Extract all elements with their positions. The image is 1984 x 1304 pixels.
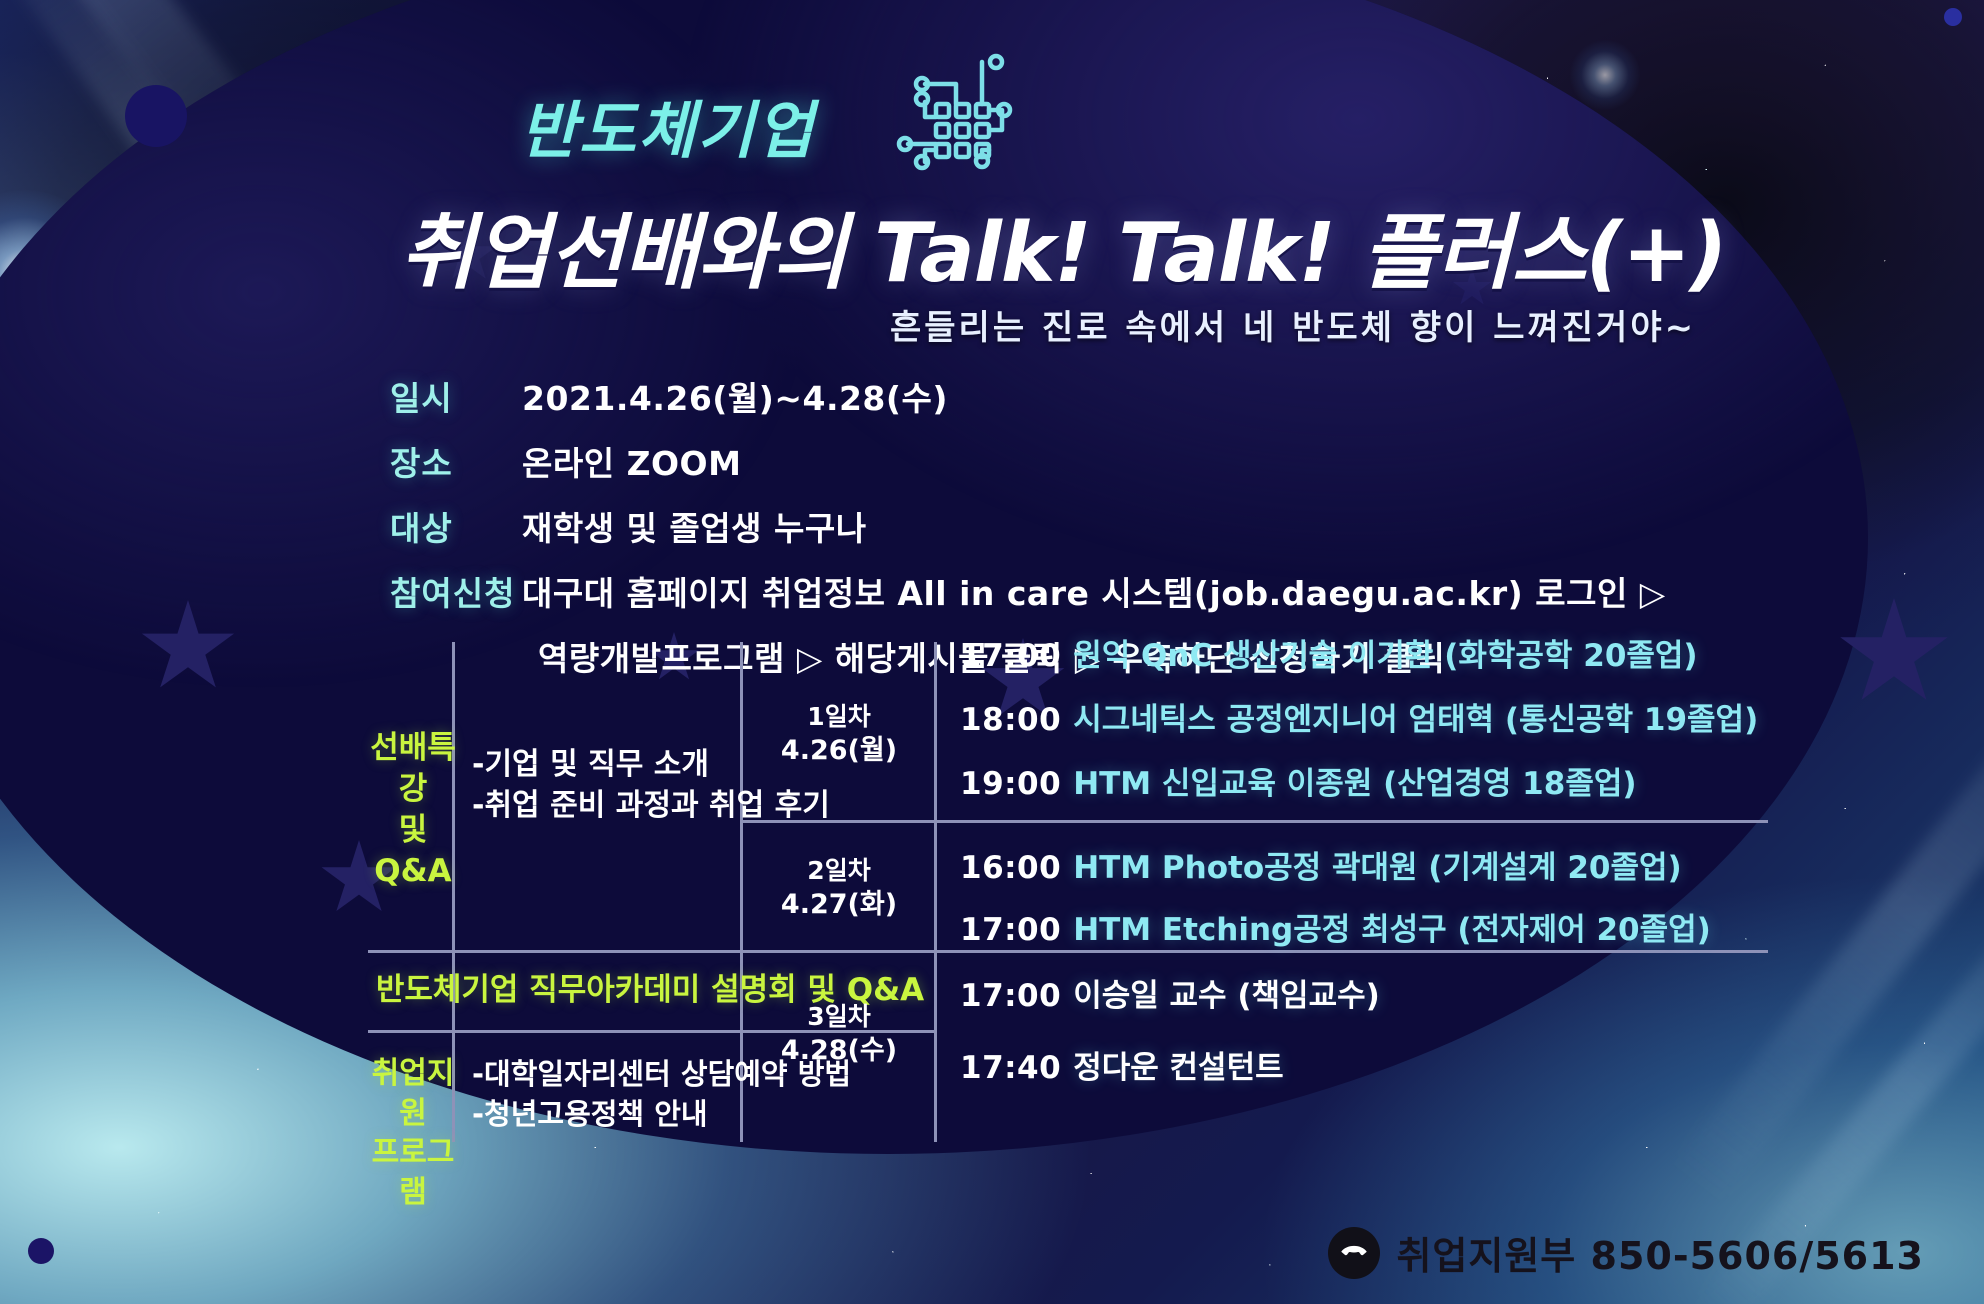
info-label: 일시 [390, 372, 522, 420]
session-time: 17:00 [960, 638, 1061, 674]
info-row-datetime: 일시 2021.4.26(월)~4.28(수) [390, 372, 1666, 420]
info-value: 재학생 및 졸업생 누구나 [522, 502, 867, 550]
session-time: 19:00 [960, 766, 1061, 802]
circuit-chip-icon [878, 44, 1020, 172]
tagline: 흔들리는 진로 속에서 네 반도체 향이 느껴진거야~ [890, 300, 1696, 349]
category-senior-lecture: 선배특강 및 Q&A [358, 728, 468, 892]
session-detail: HTM 신입교육 이종원 (산업경영 18졸업) [1073, 766, 1636, 802]
info-row-apply: 참여신청 대구대 홈페이지 취업정보 All in care 시스템(job.d… [390, 567, 1666, 615]
session-detail: HTM Etching공정 최성구 (전자제어 20졸업) [1073, 912, 1711, 948]
footer-contact: 취업지원부 850-5606/5613 [1328, 1225, 1924, 1280]
description-line: -취업 준비 과정과 취업 후기 [472, 785, 830, 826]
session-detail: 이승일 교수 (책임교수) [1073, 978, 1380, 1014]
session-row: 17:40정다운 컨설턴트 [960, 1042, 1284, 1087]
session-row: 18:00시그네틱스 공정엔지니어 엄태혁 (통신공학 19졸업) [960, 694, 1758, 739]
day-name: 1일차 [748, 700, 930, 733]
table-horizontal-rule [368, 950, 1768, 953]
session-time: 18:00 [960, 702, 1061, 738]
session-detail: 시그네틱스 공정엔지니어 엄태혁 (통신공학 19졸업) [1073, 702, 1758, 738]
info-row-place: 장소 온라인 ZOOM [390, 437, 1666, 485]
session-time: 16:00 [960, 850, 1061, 886]
category-employment-support: 취업지원 프로그램 [358, 1054, 468, 1212]
poster-content: 반도체기업 [0, 0, 1984, 1304]
kicker-text: 반도체기업 [520, 80, 815, 170]
phone-icon [1328, 1227, 1380, 1279]
day-date: 4.26(월) [748, 733, 930, 769]
session-row: 17:00이승일 교수 (책임교수) [960, 970, 1380, 1015]
info-label: 대상 [390, 502, 522, 550]
info-value: 2021.4.26(월)~4.28(수) [522, 372, 948, 420]
session-detail: HTM Photo공정 곽대원 (기계설계 20졸업) [1073, 850, 1682, 886]
session-row: 16:00HTM Photo공정 곽대원 (기계설계 20졸업) [960, 842, 1682, 887]
footer-text: 취업지원부 850-5606/5613 [1396, 1225, 1924, 1280]
session-time: 17:40 [960, 1050, 1061, 1086]
session-row: 17:00HTM Etching공정 최성구 (전자제어 20졸업) [960, 904, 1711, 949]
session-time: 17:00 [960, 912, 1061, 948]
info-row-audience: 대상 재학생 및 졸업생 누구나 [390, 502, 1666, 550]
session-row: 19:00HTM 신입교육 이종원 (산업경영 18졸업) [960, 758, 1637, 803]
schedule-table: 선배특강 및 Q&A 반도체기업 직무아카데미 설명회 및 Q&A 취업지원 프… [368, 632, 1768, 1152]
session-detail: 원익 QnC 생산기술 이기환 (화학공학 20졸업) [1073, 638, 1697, 674]
day-name: 2일차 [748, 854, 930, 887]
day-date: 4.27(화) [748, 887, 930, 923]
session-time: 17:00 [960, 978, 1061, 1014]
session-detail: 정다운 컨설턴트 [1073, 1050, 1283, 1086]
session-row: 17:00원익 QnC 생산기술 이기환 (화학공학 20졸업) [960, 630, 1698, 675]
day-cell-1: 1일차 4.26(월) [748, 700, 930, 769]
day-cell-2: 2일차 4.27(화) [748, 854, 930, 923]
day-name: 3일차 [748, 1000, 930, 1033]
info-value: 대구대 홈페이지 취업정보 All in care 시스템(job.daegu.… [522, 567, 1666, 615]
table-vertical-rule [934, 642, 937, 1142]
page-title: 취업선배와의 Talk! Talk! 플러스(+) [400, 186, 1726, 305]
info-value: 온라인 ZOOM [522, 437, 741, 485]
day-date: 4.28(수) [748, 1033, 930, 1069]
poster-canvas: 반도체기업 [0, 0, 1984, 1304]
info-label: 참여신청 [390, 567, 522, 615]
table-horizontal-rule [740, 820, 1768, 823]
description-line: -청년고용정책 안내 [472, 1094, 851, 1134]
info-label: 장소 [390, 437, 522, 485]
day-cell-3: 3일차 4.28(수) [748, 1000, 930, 1069]
